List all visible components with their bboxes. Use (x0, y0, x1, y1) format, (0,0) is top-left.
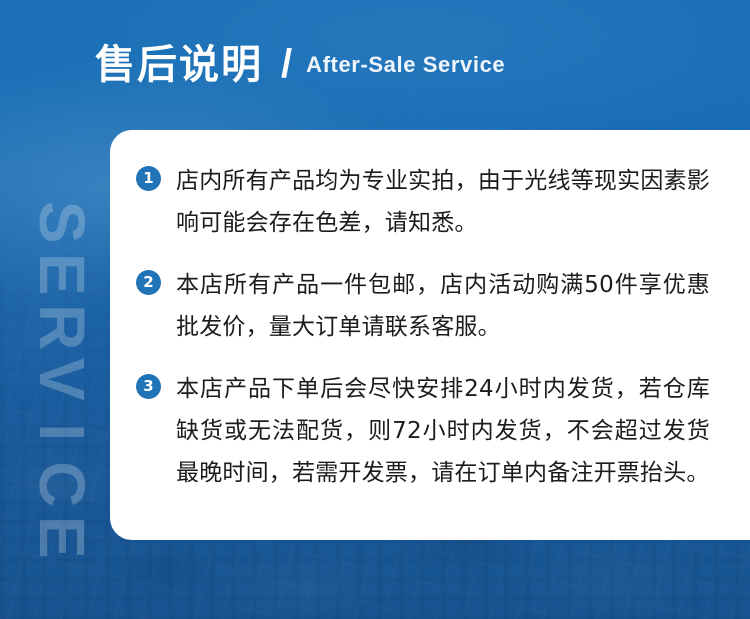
title-separator-slash: / (281, 44, 292, 84)
list-item: 3 本店产品下单后会尽快安排24小时内发货，若仓库缺货或无法配货，则72小时内发… (136, 368, 710, 494)
item-text-1: 店内所有产品均为专业实拍，由于光线等现实因素影响可能会存在色差，请知悉。 (176, 160, 710, 244)
banner-header: 售后说明 / After-Sale Service (0, 0, 750, 130)
item-number-badge-1: 1 (136, 166, 161, 191)
list-item: 2 本店所有产品一件包邮，店内活动购满50件享优惠批发价，量大订单请联系客服。 (136, 264, 710, 348)
page-subtitle: After-Sale Service (306, 54, 505, 76)
after-sale-service-banner: S E R V I C E 售后说明 / After-Sale Service … (0, 0, 750, 619)
item-number-badge-3: 3 (136, 374, 161, 399)
service-notes-card: 1 店内所有产品均为专业实拍，由于光线等现实因素影响可能会存在色差，请知悉。 2… (110, 130, 750, 540)
item-number-badge-2: 2 (136, 270, 161, 295)
item-text-3: 本店产品下单后会尽快安排24小时内发货，若仓库缺货或无法配货，则72小时内发货，… (176, 368, 710, 494)
list-item: 1 店内所有产品均为专业实拍，由于光线等现实因素影响可能会存在色差，请知悉。 (136, 160, 710, 244)
item-text-2: 本店所有产品一件包邮，店内活动购满50件享优惠批发价，量大订单请联系客服。 (176, 264, 710, 348)
page-title: 售后说明 (95, 45, 263, 85)
